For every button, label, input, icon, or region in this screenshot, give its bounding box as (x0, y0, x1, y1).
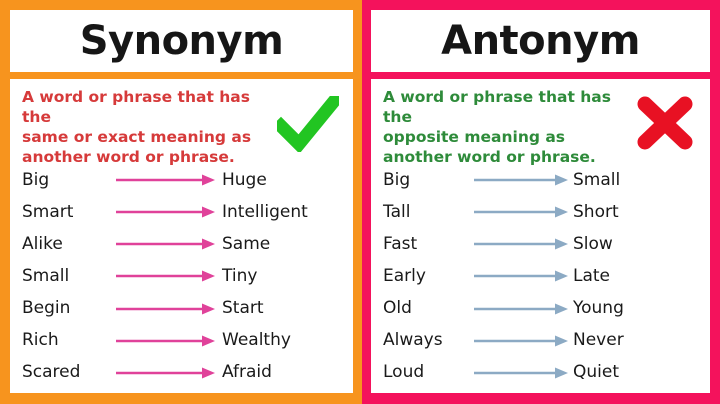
antonym-panel: Antonym A word or phrase that has the op… (362, 0, 720, 404)
synonym-source-word: Small (22, 268, 110, 285)
synonym-target-word: Huge (222, 172, 343, 189)
synonym-target-word: Afraid (222, 364, 343, 381)
synonym-source-word: Smart (22, 204, 110, 221)
list-item: Loud Quiet (383, 359, 700, 387)
synonym-pair-list: Big Huge Smart (10, 164, 353, 393)
antonym-description-row: A word or phrase that has the opposite m… (371, 86, 710, 164)
arrow-right-icon (110, 302, 222, 316)
synonym-source-word: Begin (22, 300, 110, 317)
antonym-source-word: Always (383, 332, 469, 349)
antonym-source-word: Loud (383, 364, 469, 381)
synonym-source-word: Big (22, 172, 110, 189)
synonym-description-row: A word or phrase that has the same or ex… (10, 86, 353, 164)
arrow-right-icon (469, 173, 573, 187)
synonym-description: A word or phrase that has the same or ex… (22, 86, 271, 168)
synonym-title-box: Synonym (10, 10, 353, 72)
list-item: Rich Wealthy (22, 327, 343, 355)
synonym-body: A word or phrase that has the same or ex… (10, 79, 353, 393)
arrow-right-icon (469, 366, 573, 380)
synonym-source-word: Scared (22, 364, 110, 381)
list-item: Smart Intelligent (22, 198, 343, 226)
antonym-target-word: Slow (573, 236, 700, 253)
arrow-right-icon (469, 269, 573, 283)
synonym-antonym-infographic: Synonym A word or phrase that has the sa… (0, 0, 720, 404)
arrow-right-icon (110, 173, 222, 187)
synonym-target-word: Tiny (222, 268, 343, 285)
antonym-target-word: Quiet (573, 364, 700, 381)
red-cross-icon (636, 96, 694, 150)
antonym-source-word: Early (383, 268, 469, 285)
arrow-right-icon (110, 205, 222, 219)
arrow-right-icon (469, 302, 573, 316)
arrow-right-icon (469, 237, 573, 251)
synonym-description-line-2: same or exact meaning as (22, 127, 271, 147)
antonym-source-word: Tall (383, 204, 469, 221)
arrow-right-icon (110, 237, 222, 251)
list-item: Big Small (383, 166, 700, 194)
arrow-right-icon (110, 366, 222, 380)
antonym-source-word: Big (383, 172, 469, 189)
list-item: Always Never (383, 327, 700, 355)
synonym-target-word: Intelligent (222, 204, 343, 221)
list-item: Alike Same (22, 230, 343, 258)
page-title-synonym: Synonym (80, 21, 284, 61)
synonym-description-line-1: A word or phrase that has the (22, 87, 271, 127)
antonym-title-box: Antonym (371, 10, 710, 72)
list-item: Small Tiny (22, 262, 343, 290)
arrow-right-icon (110, 334, 222, 348)
arrow-right-icon (469, 334, 573, 348)
list-item: Early Late (383, 262, 700, 290)
antonym-target-word: Short (573, 204, 700, 221)
synonym-target-word: Same (222, 236, 343, 253)
synonym-source-word: Alike (22, 236, 110, 253)
list-item: Tall Short (383, 198, 700, 226)
antonym-target-word: Young (573, 300, 700, 317)
antonym-source-word: Fast (383, 236, 469, 253)
green-check-icon (277, 96, 339, 152)
antonym-target-word: Never (573, 332, 700, 349)
antonym-description-line-2: opposite meaning as (383, 127, 628, 147)
red-cross-mark (628, 86, 702, 150)
green-check-mark (271, 86, 345, 152)
synonym-target-word: Wealthy (222, 332, 343, 349)
synonym-target-word: Start (222, 300, 343, 317)
antonym-target-word: Late (573, 268, 700, 285)
antonym-description: A word or phrase that has the opposite m… (383, 86, 628, 168)
list-item: Fast Slow (383, 230, 700, 258)
antonym-pair-list: Big Small Tall (371, 164, 710, 393)
antonym-source-word: Old (383, 300, 469, 317)
antonym-body: A word or phrase that has the opposite m… (371, 79, 710, 393)
synonym-panel: Synonym A word or phrase that has the sa… (0, 0, 362, 404)
list-item: Begin Start (22, 295, 343, 323)
arrow-right-icon (469, 205, 573, 219)
list-item: Scared Afraid (22, 359, 343, 387)
arrow-right-icon (110, 269, 222, 283)
antonym-description-line-1: A word or phrase that has the (383, 87, 628, 127)
antonym-target-word: Small (573, 172, 700, 189)
list-item: Old Young (383, 295, 700, 323)
synonym-source-word: Rich (22, 332, 110, 349)
page-title-antonym: Antonym (441, 21, 640, 61)
list-item: Big Huge (22, 166, 343, 194)
